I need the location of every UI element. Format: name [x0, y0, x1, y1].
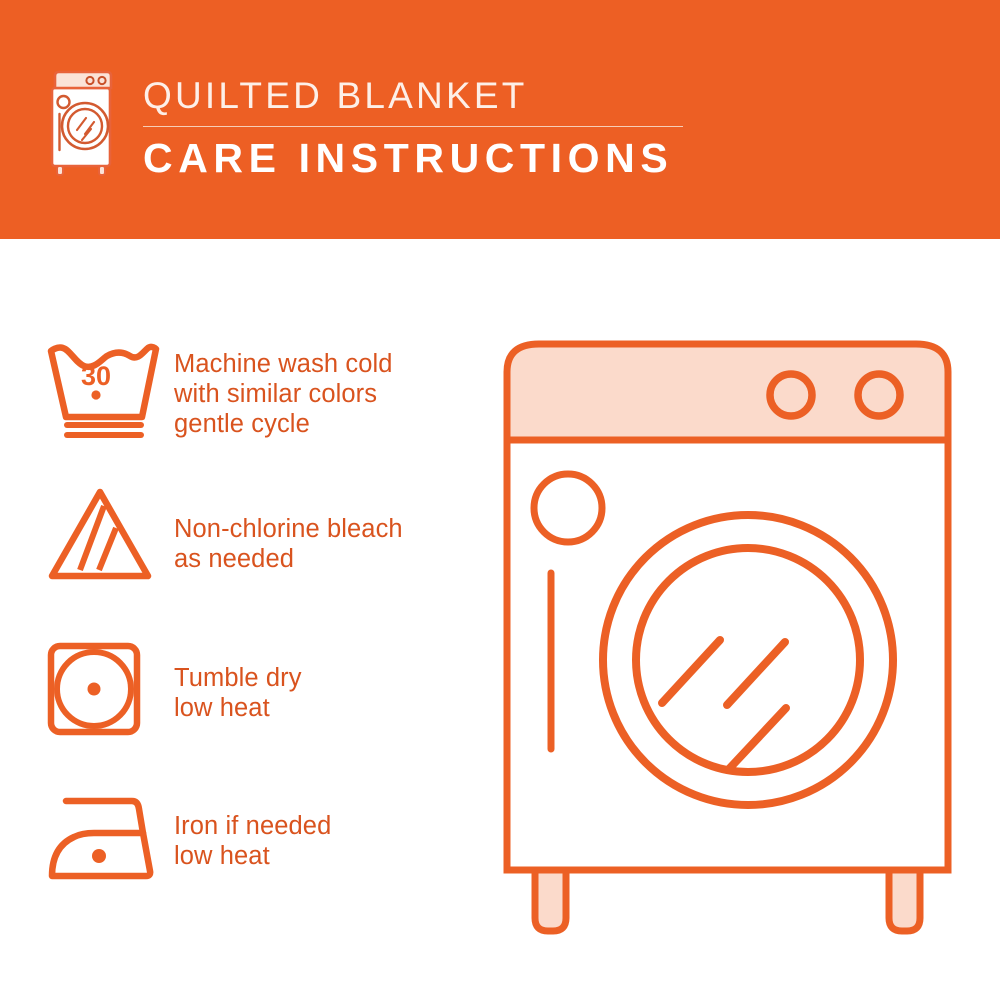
care-text-line: Non-chlorine bleach: [174, 514, 474, 544]
care-item-dry: Tumble dry low heat: [44, 639, 474, 739]
foot-left: [535, 870, 566, 931]
care-text-line: Machine wash cold: [174, 349, 474, 379]
header-title-group: QUILTED BLANKET CARE INSTRUCTIONS: [143, 74, 703, 182]
foot-right: [889, 870, 920, 931]
care-item-bleach-text: Non-chlorine bleach as needed: [174, 484, 474, 574]
care-text-line: Tumble dry: [174, 663, 474, 693]
care-text-line: as needed: [174, 544, 474, 574]
wash-tub-30-icon: 30: [44, 339, 174, 443]
care-text-line: with similar colors: [174, 379, 474, 409]
care-item-iron: Iron if needed low heat: [44, 789, 474, 883]
iron-low-heat-icon: [44, 789, 174, 883]
care-text-line: low heat: [174, 693, 474, 723]
care-item-bleach: Non-chlorine bleach as needed: [44, 484, 474, 584]
tumble-dry-low-icon: [44, 639, 174, 739]
machine-control-panel: [507, 344, 948, 440]
care-item-wash-text: Machine wash cold with similar colors ge…: [174, 339, 474, 439]
care-instructions-list: 30 Machine wash cold with similar colors…: [0, 239, 480, 1000]
care-text-line: Iron if needed: [174, 811, 474, 841]
header-banner: QUILTED BLANKET CARE INSTRUCTIONS: [0, 0, 1000, 239]
washing-machine-illustration: [495, 330, 960, 940]
wash-temperature-label: 30: [81, 361, 111, 391]
washing-machine-icon: [44, 68, 120, 178]
care-text-line: gentle cycle: [174, 409, 474, 439]
page-title-secondary: CARE INSTRUCTIONS: [143, 134, 703, 182]
care-item-dry-text: Tumble dry low heat: [174, 639, 474, 723]
title-divider: [143, 126, 683, 127]
care-text-line: low heat: [174, 841, 474, 871]
non-chlorine-bleach-triangle-icon: [44, 484, 174, 584]
care-instructions-page: QUILTED BLANKET CARE INSTRUCTIONS 30: [0, 0, 1000, 1000]
page-title-primary: QUILTED BLANKET: [143, 74, 703, 118]
care-item-wash: 30 Machine wash cold with similar colors…: [44, 339, 474, 443]
care-item-iron-text: Iron if needed low heat: [174, 789, 474, 871]
